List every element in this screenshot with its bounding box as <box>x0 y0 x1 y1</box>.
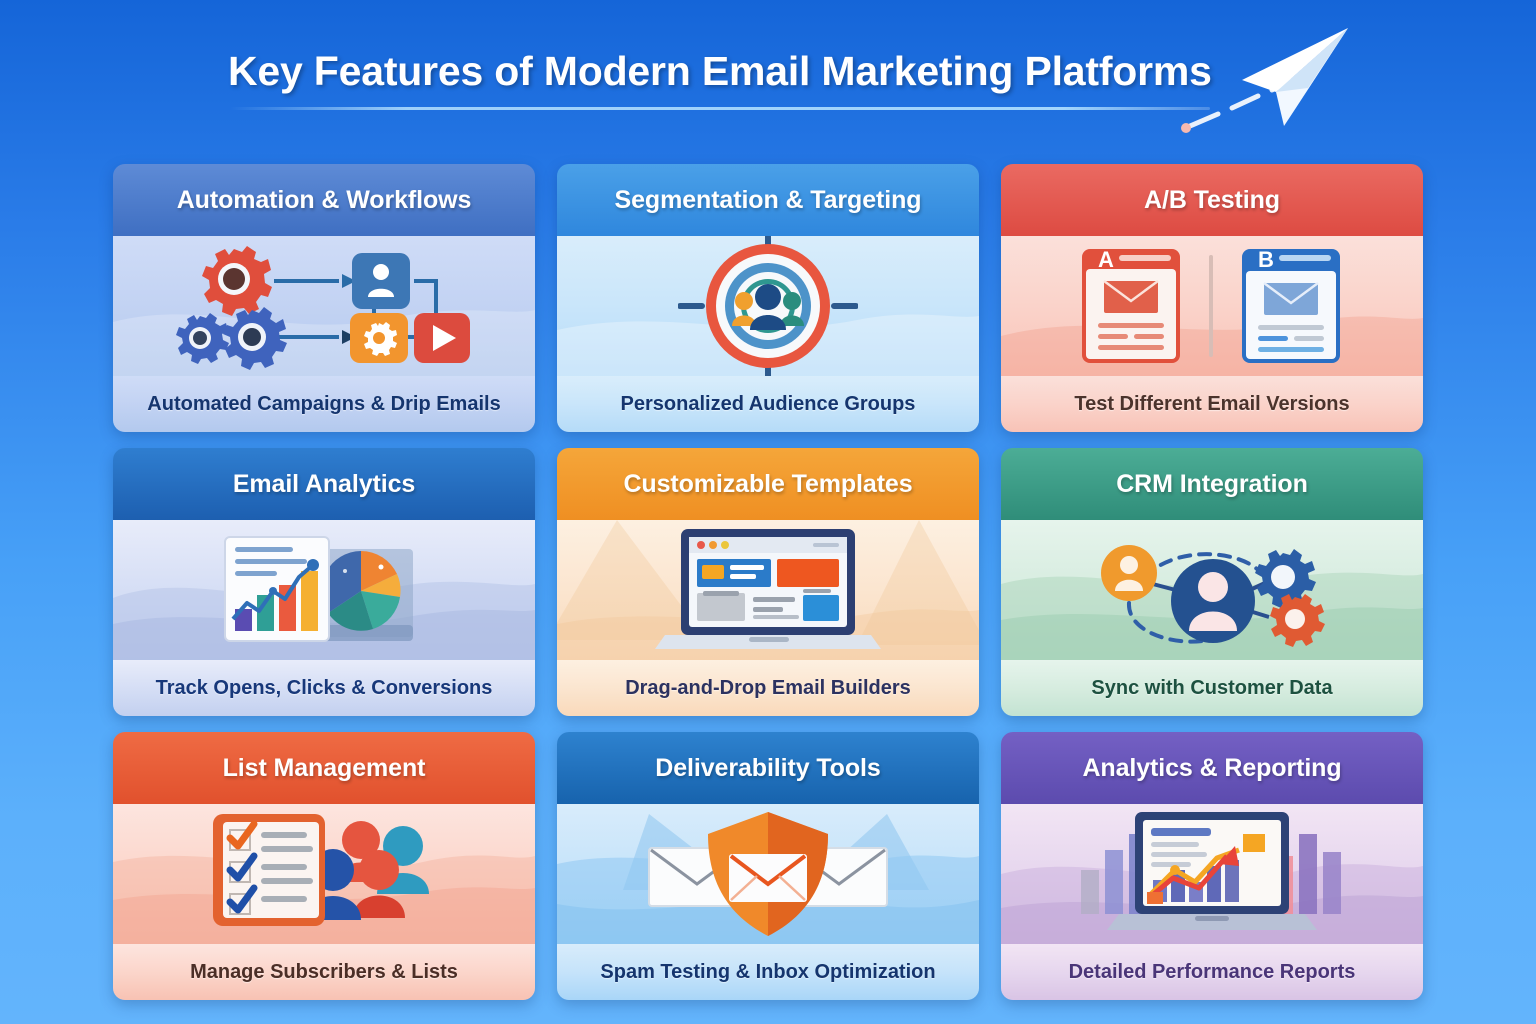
feature-card-automation-workflows[interactable]: Automation & Workflows <box>113 164 535 432</box>
paper-plane-icon <box>1180 18 1370 138</box>
card-header: Deliverability Tools <box>557 732 979 804</box>
card-caption: Sync with Customer Data <box>1091 677 1332 700</box>
checklist-people-icon <box>199 808 449 940</box>
card-footer: Detailed Performance Reports <box>1001 944 1423 1000</box>
laptop-growth-chart-icon <box>1077 808 1347 940</box>
feature-card-analytics-reporting[interactable]: Analytics & Reporting <box>1001 732 1423 1000</box>
laptop-template-icon <box>653 525 883 655</box>
card-footer: Manage Subscribers & Lists <box>113 944 535 1000</box>
card-caption: Detailed Performance Reports <box>1069 961 1356 984</box>
card-caption: Manage Subscribers & Lists <box>190 961 458 984</box>
feature-card-customizable-templates[interactable]: Customizable Templates <box>557 448 979 716</box>
page-header: Key Features of Modern Email Marketing P… <box>0 0 1536 148</box>
card-title: Email Analytics <box>233 470 415 499</box>
shield-envelope-icon <box>643 810 893 938</box>
card-illustration-area <box>1001 804 1423 944</box>
card-illustration-area <box>557 520 979 660</box>
card-illustration-area <box>557 804 979 944</box>
card-title: Analytics & Reporting <box>1082 754 1341 783</box>
card-header: Automation & Workflows <box>113 164 535 236</box>
feature-card-ab-testing[interactable]: A/B Testing A <box>1001 164 1423 432</box>
feature-card-list-management[interactable]: List Management <box>113 732 535 1000</box>
card-footer: Drag-and-Drop Email Builders <box>557 660 979 716</box>
card-caption: Spam Testing & Inbox Optimization <box>600 961 935 984</box>
feature-card-grid: Automation & Workflows <box>0 160 1536 980</box>
card-title: Deliverability Tools <box>655 754 880 783</box>
target-audience-icon <box>678 236 858 376</box>
ab-compare-icon: A B <box>1072 241 1352 371</box>
page-title: Key Features of Modern Email Marketing P… <box>228 48 1212 95</box>
workflow-gears-icon <box>164 241 484 371</box>
card-illustration-area <box>113 804 535 944</box>
card-footer: Spam Testing & Inbox Optimization <box>557 944 979 1000</box>
card-title: Automation & Workflows <box>177 186 472 215</box>
card-caption: Automated Campaigns & Drip Emails <box>147 393 500 416</box>
card-illustration-area <box>557 236 979 376</box>
card-caption: Personalized Audience Groups <box>621 393 916 416</box>
svg-text:B: B <box>1258 247 1274 272</box>
bar-pie-chart-icon <box>219 525 429 655</box>
svg-text:A: A <box>1098 247 1114 272</box>
card-caption: Drag-and-Drop Email Builders <box>625 677 911 700</box>
feature-card-deliverability-tools[interactable]: Deliverability Tools <box>557 732 979 1000</box>
title-underline-rule <box>230 107 1210 110</box>
card-header: A/B Testing <box>1001 164 1423 236</box>
card-title: List Management <box>223 754 426 783</box>
card-illustration-area <box>113 520 535 660</box>
card-footer: Personalized Audience Groups <box>557 376 979 432</box>
card-footer: Test Different Email Versions <box>1001 376 1423 432</box>
card-title: Segmentation & Targeting <box>615 186 922 215</box>
card-illustration-area <box>1001 520 1423 660</box>
card-header: Segmentation & Targeting <box>557 164 979 236</box>
card-footer: Automated Campaigns & Drip Emails <box>113 376 535 432</box>
card-illustration-area <box>113 236 535 376</box>
card-footer: Track Opens, Clicks & Conversions <box>113 660 535 716</box>
card-caption: Track Opens, Clicks & Conversions <box>156 677 493 700</box>
card-caption: Test Different Email Versions <box>1074 393 1349 416</box>
card-illustration-area: A B <box>1001 236 1423 376</box>
feature-card-email-analytics[interactable]: Email Analytics <box>113 448 535 716</box>
card-footer: Sync with Customer Data <box>1001 660 1423 716</box>
feature-card-segmentation-targeting[interactable]: Segmentation & Targeting <box>557 164 979 432</box>
card-title: CRM Integration <box>1116 470 1308 499</box>
card-header: Customizable Templates <box>557 448 979 520</box>
card-title: A/B Testing <box>1144 186 1280 215</box>
card-header: Email Analytics <box>113 448 535 520</box>
feature-card-crm-integration[interactable]: CRM Integration <box>1001 448 1423 716</box>
card-header: CRM Integration <box>1001 448 1423 520</box>
card-header: Analytics & Reporting <box>1001 732 1423 804</box>
crm-users-gears-icon <box>1087 525 1337 655</box>
card-header: List Management <box>113 732 535 804</box>
card-title: Customizable Templates <box>623 470 912 499</box>
